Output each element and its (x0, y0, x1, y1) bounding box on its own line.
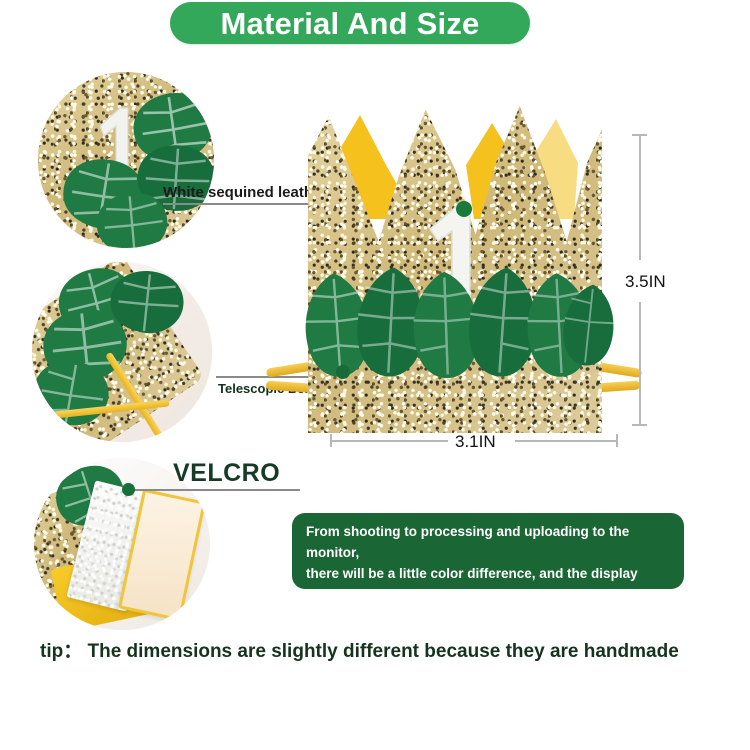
disclaimer-line-3: of each monitor will be different! (306, 605, 670, 626)
callout-label-velcro: VELCRO (173, 459, 280, 488)
dim-line-height-upper (639, 134, 641, 260)
crown-green-accent-dot (456, 201, 472, 217)
disclaimer-line-2: there will be a little color difference,… (306, 563, 670, 605)
detail-photo-sequined-leather (38, 72, 214, 248)
monstera-leaf-icon (89, 187, 174, 248)
crown-band-anchor-dot (336, 365, 350, 379)
velcro-anchor-dot (122, 483, 135, 496)
dim-line-width-right (515, 440, 617, 442)
dim-cap-bottom (632, 424, 647, 426)
monstera-leaf-icon (32, 351, 117, 434)
dim-label-width: 3.1IN (455, 432, 496, 452)
dim-label-height: 3.5IN (625, 272, 666, 292)
dim-cap-right (616, 434, 618, 447)
crown-leaf-band (304, 265, 606, 395)
monstera-leaf-icon (555, 272, 623, 378)
tip-text: tip： The dimensions are slightly differe… (40, 636, 679, 663)
leader-line-velcro (128, 489, 300, 491)
page-title-banner: Material And Size (170, 2, 530, 44)
disclaimer-line-1: From shooting to processing and uploadin… (306, 521, 670, 563)
detail-photo-telescopic-belt (32, 262, 212, 442)
dim-line-height-lower (639, 302, 641, 424)
product-photo-crown (268, 95, 638, 445)
disclaimer-box: From shooting to processing and uploadin… (292, 513, 684, 589)
page-title: Material And Size (221, 8, 480, 39)
dim-line-width-left (330, 440, 448, 442)
infographic-canvas: Material And Size (0, 0, 750, 750)
